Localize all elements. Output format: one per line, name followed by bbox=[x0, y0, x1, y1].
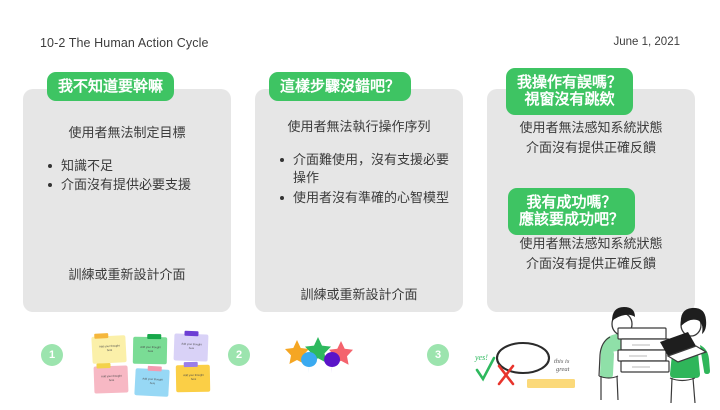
page-title: 10-2 The Human Action Cycle bbox=[40, 36, 209, 50]
slide-header: 10-2 The Human Action Cycle June 1, 2021 bbox=[0, 36, 720, 54]
speech-bubble-icon-blue bbox=[301, 352, 317, 373]
column-3-badge-1: 我操作有誤嗎？ 視窗沒有跳欸 bbox=[506, 68, 633, 115]
column-1: 我不知道要幹嘛 使用者無法制定目標 知識不足 介面沒有提供必要支援 訓練或重新設… bbox=[23, 72, 231, 317]
sticky-note-tab bbox=[184, 331, 198, 336]
list-item: 介面沒有提供必要支援 bbox=[61, 176, 217, 194]
sticky-note-text: Add your thought here bbox=[97, 344, 122, 353]
column-3-lead-2-line-1: 使用者無法感知系統狀態 bbox=[501, 234, 681, 254]
column-3-lead-1-line-1: 使用者無法感知系統狀態 bbox=[501, 118, 681, 138]
slide-date: June 1, 2021 bbox=[613, 36, 680, 48]
column-3-body-2: 使用者無法感知系統狀態 介面沒有提供正確反饋 bbox=[487, 234, 695, 273]
list-item: 知識不足 bbox=[61, 157, 217, 175]
sticky-note: Add your thought here bbox=[91, 335, 126, 364]
sticky-note-tab bbox=[184, 362, 198, 367]
sticky-note-tab bbox=[94, 333, 108, 339]
sticky-note: Add your thought here bbox=[174, 333, 209, 361]
laptop-icon bbox=[660, 332, 706, 362]
column-3-lead-2-line-2: 介面沒有提供正確反饋 bbox=[501, 254, 681, 274]
sketch-yes-label: yes! bbox=[474, 353, 488, 362]
sticky-note-text: Add your thought here bbox=[140, 377, 165, 386]
sketch-annotations: yes! this is great bbox=[455, 336, 595, 398]
column-2-points: 介面難使用，沒有支援必要操作 使用者沒有準確的心智模型 bbox=[269, 151, 449, 207]
column-2-badge: 這樣步驟沒錯吧？ bbox=[269, 72, 411, 101]
column-1-tail: 訓練或重新設計介面 bbox=[23, 266, 231, 285]
column-2-body: 使用者無法執行操作序列 介面難使用，沒有支援必要操作 使用者沒有準確的心智模型 … bbox=[255, 118, 463, 208]
column-1-lead: 使用者無法制定目標 bbox=[37, 124, 217, 143]
column-3-lead-1-line-2: 介面沒有提供正確反饋 bbox=[501, 138, 681, 158]
sticky-note-text: Add your thought here bbox=[181, 374, 206, 382]
footer-strip: 1 2 3 Add your thought here Add your tho… bbox=[0, 330, 720, 405]
column-2-lead: 使用者無法執行操作序列 bbox=[269, 118, 449, 137]
step-number-2: 2 bbox=[228, 344, 250, 366]
sticky-note-text: Add your thought here bbox=[99, 375, 124, 384]
column-3: 我操作有誤嗎？ 視窗沒有跳欸 使用者無法感知系統狀態 介面沒有提供正確反饋 我有… bbox=[487, 72, 695, 317]
sticky-note: Add your thought here bbox=[94, 365, 129, 393]
sticky-note-tab bbox=[148, 366, 162, 372]
stars-and-bubbles-cluster bbox=[283, 336, 373, 386]
sticky-note: Add your thought here bbox=[133, 337, 167, 365]
sketch-svg: yes! this is great bbox=[455, 336, 595, 398]
column-1-badge: 我不知道要幹嘛 bbox=[47, 72, 174, 101]
column-1-body: 使用者無法制定目標 知識不足 介面沒有提供必要支援 訓練或重新設計介面 bbox=[23, 124, 231, 196]
column-1-points: 知識不足 介面沒有提供必要支援 bbox=[37, 157, 217, 195]
list-item: 使用者沒有準確的心智模型 bbox=[293, 189, 449, 207]
column-2: 這樣步驟沒錯吧？ 使用者無法執行操作序列 介面難使用，沒有支援必要操作 使用者沒… bbox=[255, 72, 463, 317]
sticky-notes-cluster: Add your thought here Add your thought h… bbox=[92, 332, 210, 394]
speech-bubble-icon-purple bbox=[324, 352, 340, 373]
sticky-note: Add your thought here bbox=[176, 365, 210, 393]
circle-sketch-icon bbox=[497, 343, 549, 373]
list-item: 介面難使用，沒有支援必要操作 bbox=[293, 151, 449, 188]
sticky-note-text: Add your thought here bbox=[179, 343, 204, 352]
sticky-note-text: Add your thought here bbox=[138, 346, 163, 354]
cycle-columns: 我不知道要幹嘛 使用者無法制定目標 知識不足 介面沒有提供必要支援 訓練或重新設… bbox=[0, 72, 720, 317]
column-3-body-1: 使用者無法感知系統狀態 介面沒有提供正確反饋 bbox=[487, 118, 695, 157]
step-number-1: 1 bbox=[41, 344, 63, 366]
column-2-tail: 訓練或重新設計介面 bbox=[255, 286, 463, 305]
step-number-3: 3 bbox=[427, 344, 449, 366]
people-illustration-svg bbox=[588, 298, 720, 405]
stars-bubbles-svg bbox=[283, 336, 373, 386]
sketch-note-label-line1: this is bbox=[554, 358, 570, 365]
highlight-bar-icon bbox=[527, 379, 575, 388]
sketch-note-label-line2: great bbox=[556, 366, 570, 373]
people-illustration bbox=[588, 298, 720, 405]
sticky-note: Add your thought here bbox=[134, 368, 169, 397]
sticky-note-tab bbox=[96, 363, 110, 368]
sticky-note-tab bbox=[147, 334, 161, 339]
column-3-badge-2: 我有成功嗎？ 應該要成功吧？ bbox=[508, 188, 635, 235]
paper-stack bbox=[618, 328, 669, 372]
